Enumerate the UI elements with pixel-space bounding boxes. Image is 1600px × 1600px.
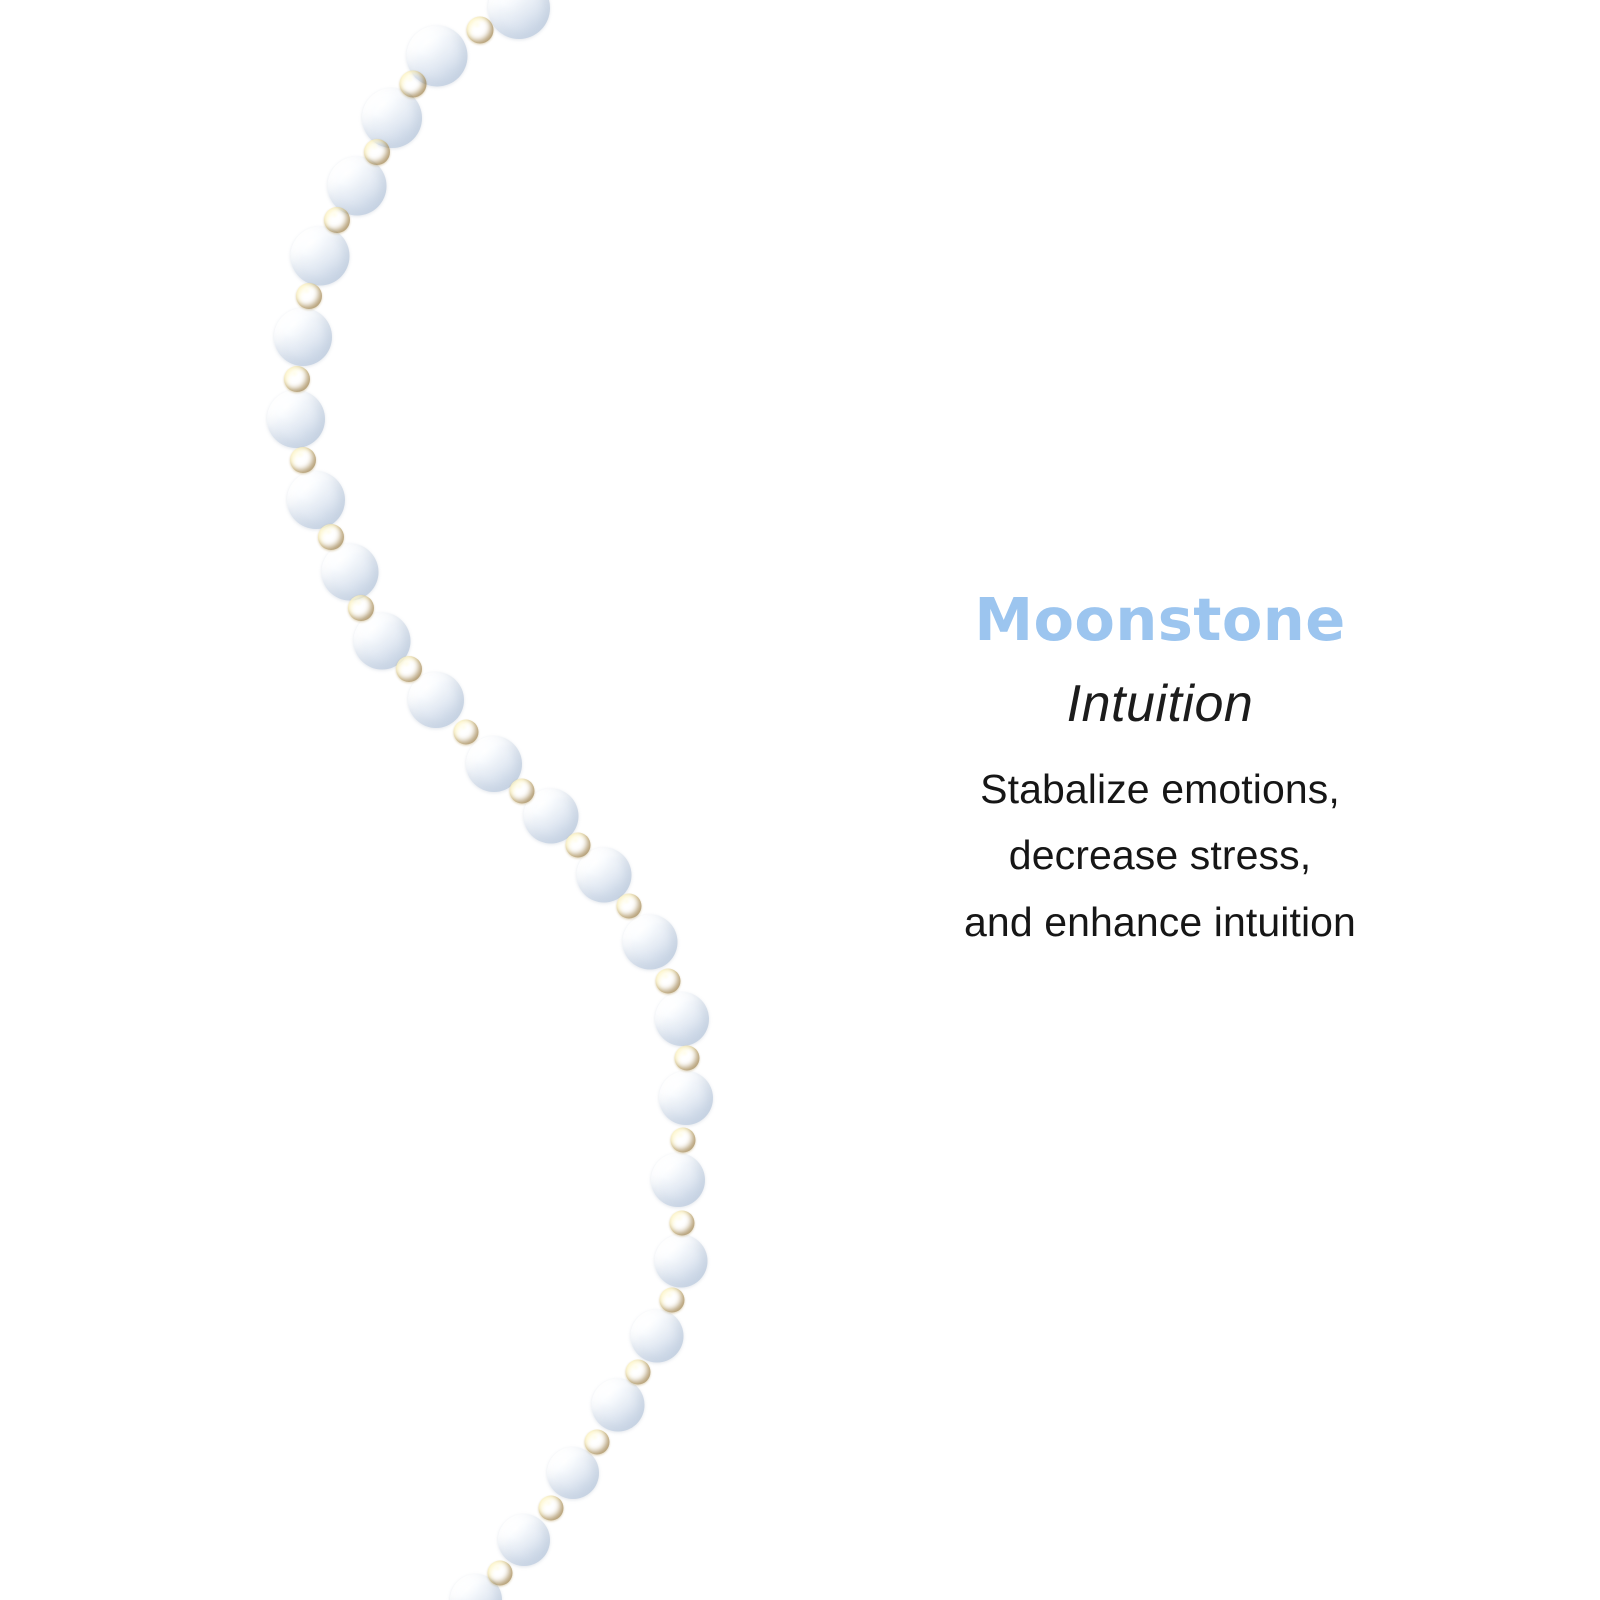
gem-keyword: Intuition [880, 678, 1440, 730]
gold-spacer-bead [296, 283, 322, 309]
moonstone-bead [631, 1310, 684, 1363]
moonstone-bead [592, 1379, 645, 1432]
gem-name-heading: Moonstone [880, 590, 1440, 649]
gold-spacer-bead [396, 656, 422, 682]
moonstone-bead [547, 1447, 599, 1499]
gold-spacer-bead [566, 833, 591, 858]
gold-spacer-bead [290, 447, 316, 473]
beaded-bracelet-strand [0, 0, 900, 1600]
moonstone-bead [291, 227, 350, 286]
gold-spacer-bead [364, 139, 390, 165]
gem-description-line-2: decrease stress, [880, 822, 1440, 888]
gold-spacer-bead [585, 1430, 610, 1455]
gold-spacer-bead [660, 1288, 685, 1313]
moonstone-bead [274, 308, 332, 366]
gold-spacer-bead [348, 595, 374, 621]
moonstone-bead [267, 390, 325, 448]
moonstone-bead [408, 672, 464, 728]
gold-spacer-bead [510, 779, 535, 804]
gold-spacer-bead [670, 1211, 695, 1236]
moonstone-bead [623, 915, 678, 970]
gold-spacer-bead [539, 1496, 564, 1521]
moonstone-bead [659, 1071, 713, 1125]
moonstone-bead [488, 0, 550, 39]
gem-description-line-1: Stabalize emotions, [880, 756, 1440, 822]
gold-spacer-bead [617, 894, 642, 919]
gold-spacer-bead [318, 524, 344, 550]
moonstone-bead [322, 544, 379, 601]
gold-spacer-bead [454, 720, 479, 745]
gold-spacer-bead [675, 1046, 700, 1071]
gold-spacer-bead [488, 1561, 513, 1586]
gem-description: Stabalize emotions,decrease stress,and e… [880, 756, 1440, 955]
gold-spacer-bead [626, 1360, 651, 1385]
moonstone-bead [287, 471, 345, 529]
gold-spacer-bead [324, 207, 350, 233]
gold-spacer-bead [656, 969, 681, 994]
moonstone-bead [655, 992, 709, 1046]
gem-description-line-3: and enhance intuition [880, 889, 1440, 955]
gold-spacer-bead [467, 17, 494, 44]
gold-spacer-bead [400, 71, 427, 98]
gem-info-panel: Moonstone Intuition Stabalize emotions,d… [880, 590, 1440, 955]
product-graphic: Moonstone Intuition Stabalize emotions,d… [0, 0, 1600, 1600]
gold-spacer-bead [671, 1128, 696, 1153]
moonstone-bead [651, 1153, 705, 1207]
moonstone-bead [655, 1235, 708, 1288]
moonstone-bead [498, 1514, 550, 1566]
gold-spacer-bead [284, 366, 310, 392]
